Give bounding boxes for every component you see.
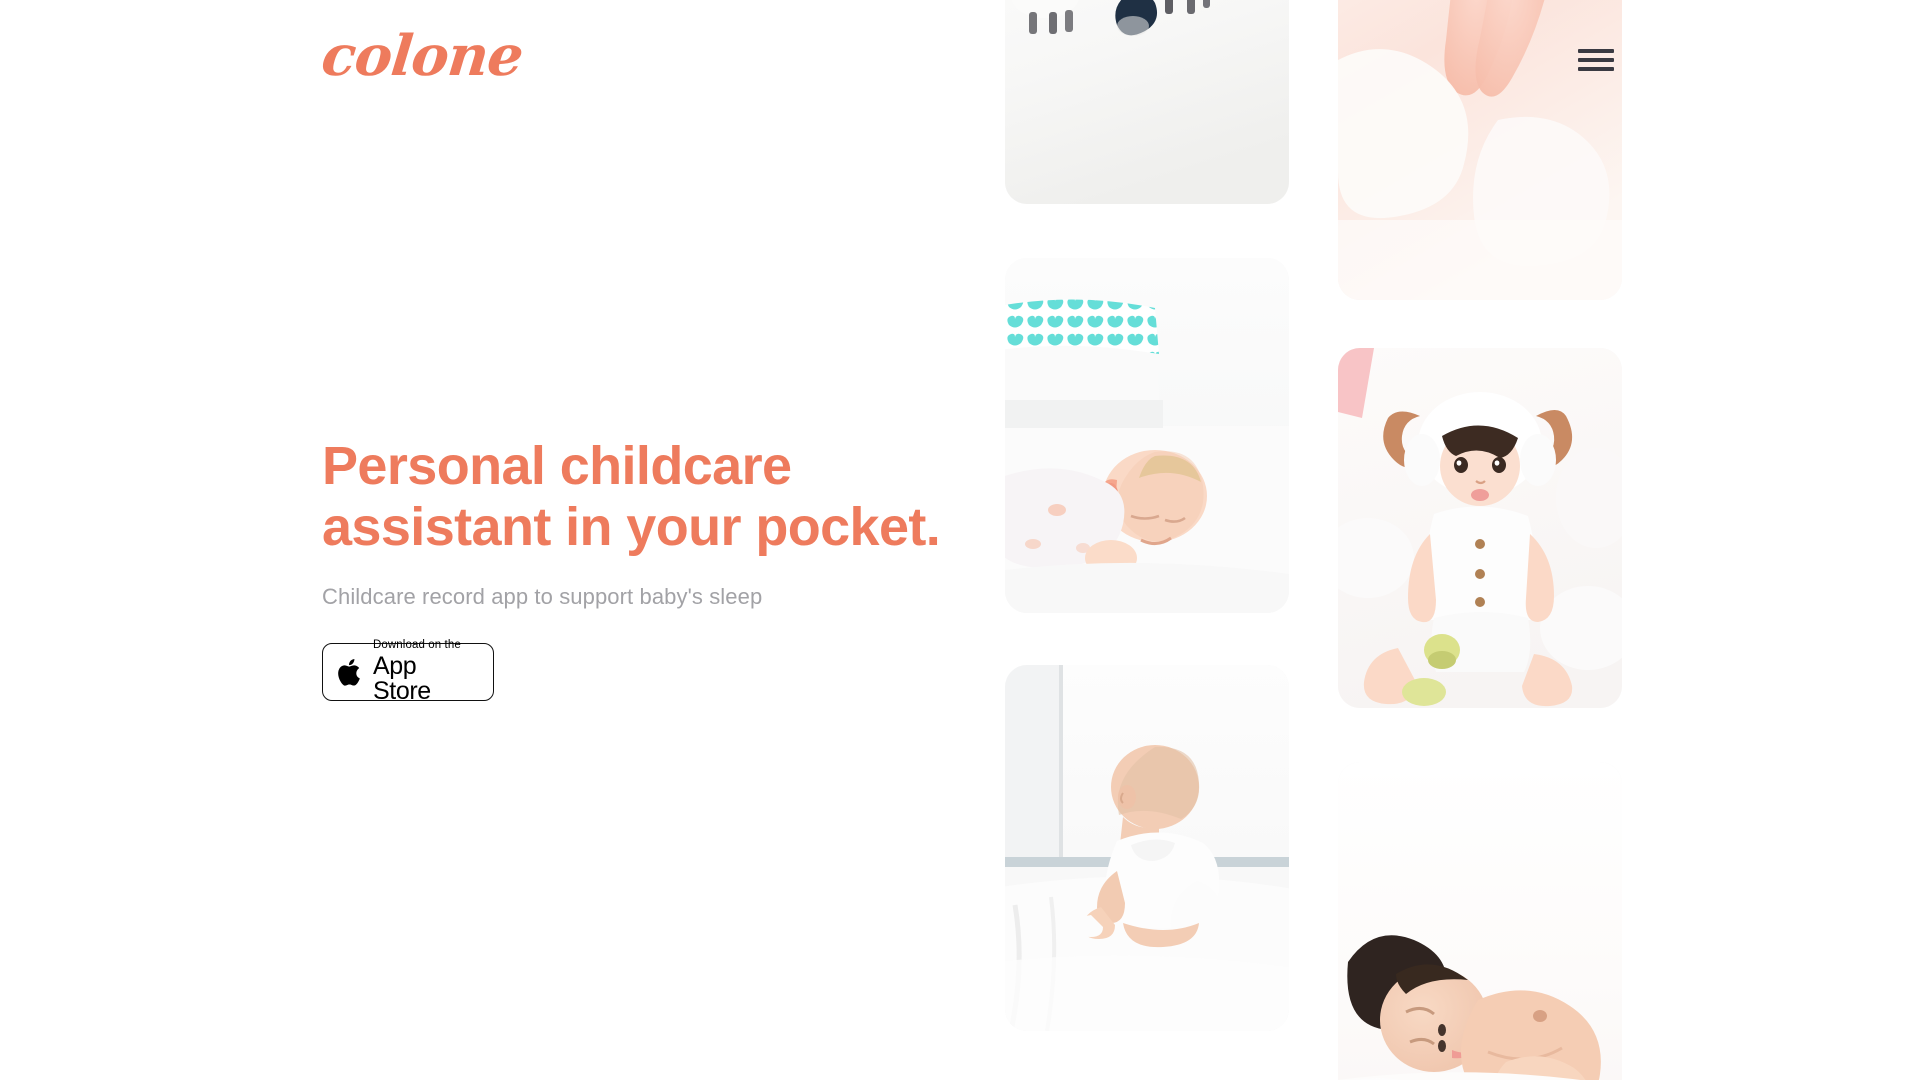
hamburger-bar-3 [1578,67,1614,71]
app-store-download-button[interactable]: Download on the App Store [322,643,494,701]
hamburger-menu-icon[interactable] [1578,46,1614,74]
photo-baby-napping[interactable] [1338,762,1622,1080]
hero-headline-line1: Personal childcare [322,436,791,496]
photo-baby-sitting[interactable] [1005,665,1289,1031]
photo-baby-feet[interactable] [1338,0,1622,300]
app-store-big-label: App Store [373,654,480,704]
hamburger-bar-1 [1578,49,1614,53]
photo-mosaic [1000,0,1640,1080]
photo-nursery-mobile[interactable] [1005,0,1289,204]
photo-sleeping-infant[interactable] [1005,258,1289,613]
hero-headline: Personal childcare assistant in your poc… [322,436,1022,558]
brand-logo[interactable]: colone [319,28,525,84]
photo-baby-bunny-suit[interactable] [1338,348,1622,708]
hero-section: Personal childcare assistant in your poc… [322,436,1022,701]
app-store-small-label: Download on the [373,640,480,652]
hero-headline-line2: assistant in your pocket. [322,497,1022,558]
hamburger-bar-2 [1578,58,1614,62]
apple-logo-icon [336,656,363,689]
landing-page: colone Personal childcare assistant in y… [0,0,1920,1080]
hero-subheadline: Childcare record app to support baby's s… [322,584,1022,610]
